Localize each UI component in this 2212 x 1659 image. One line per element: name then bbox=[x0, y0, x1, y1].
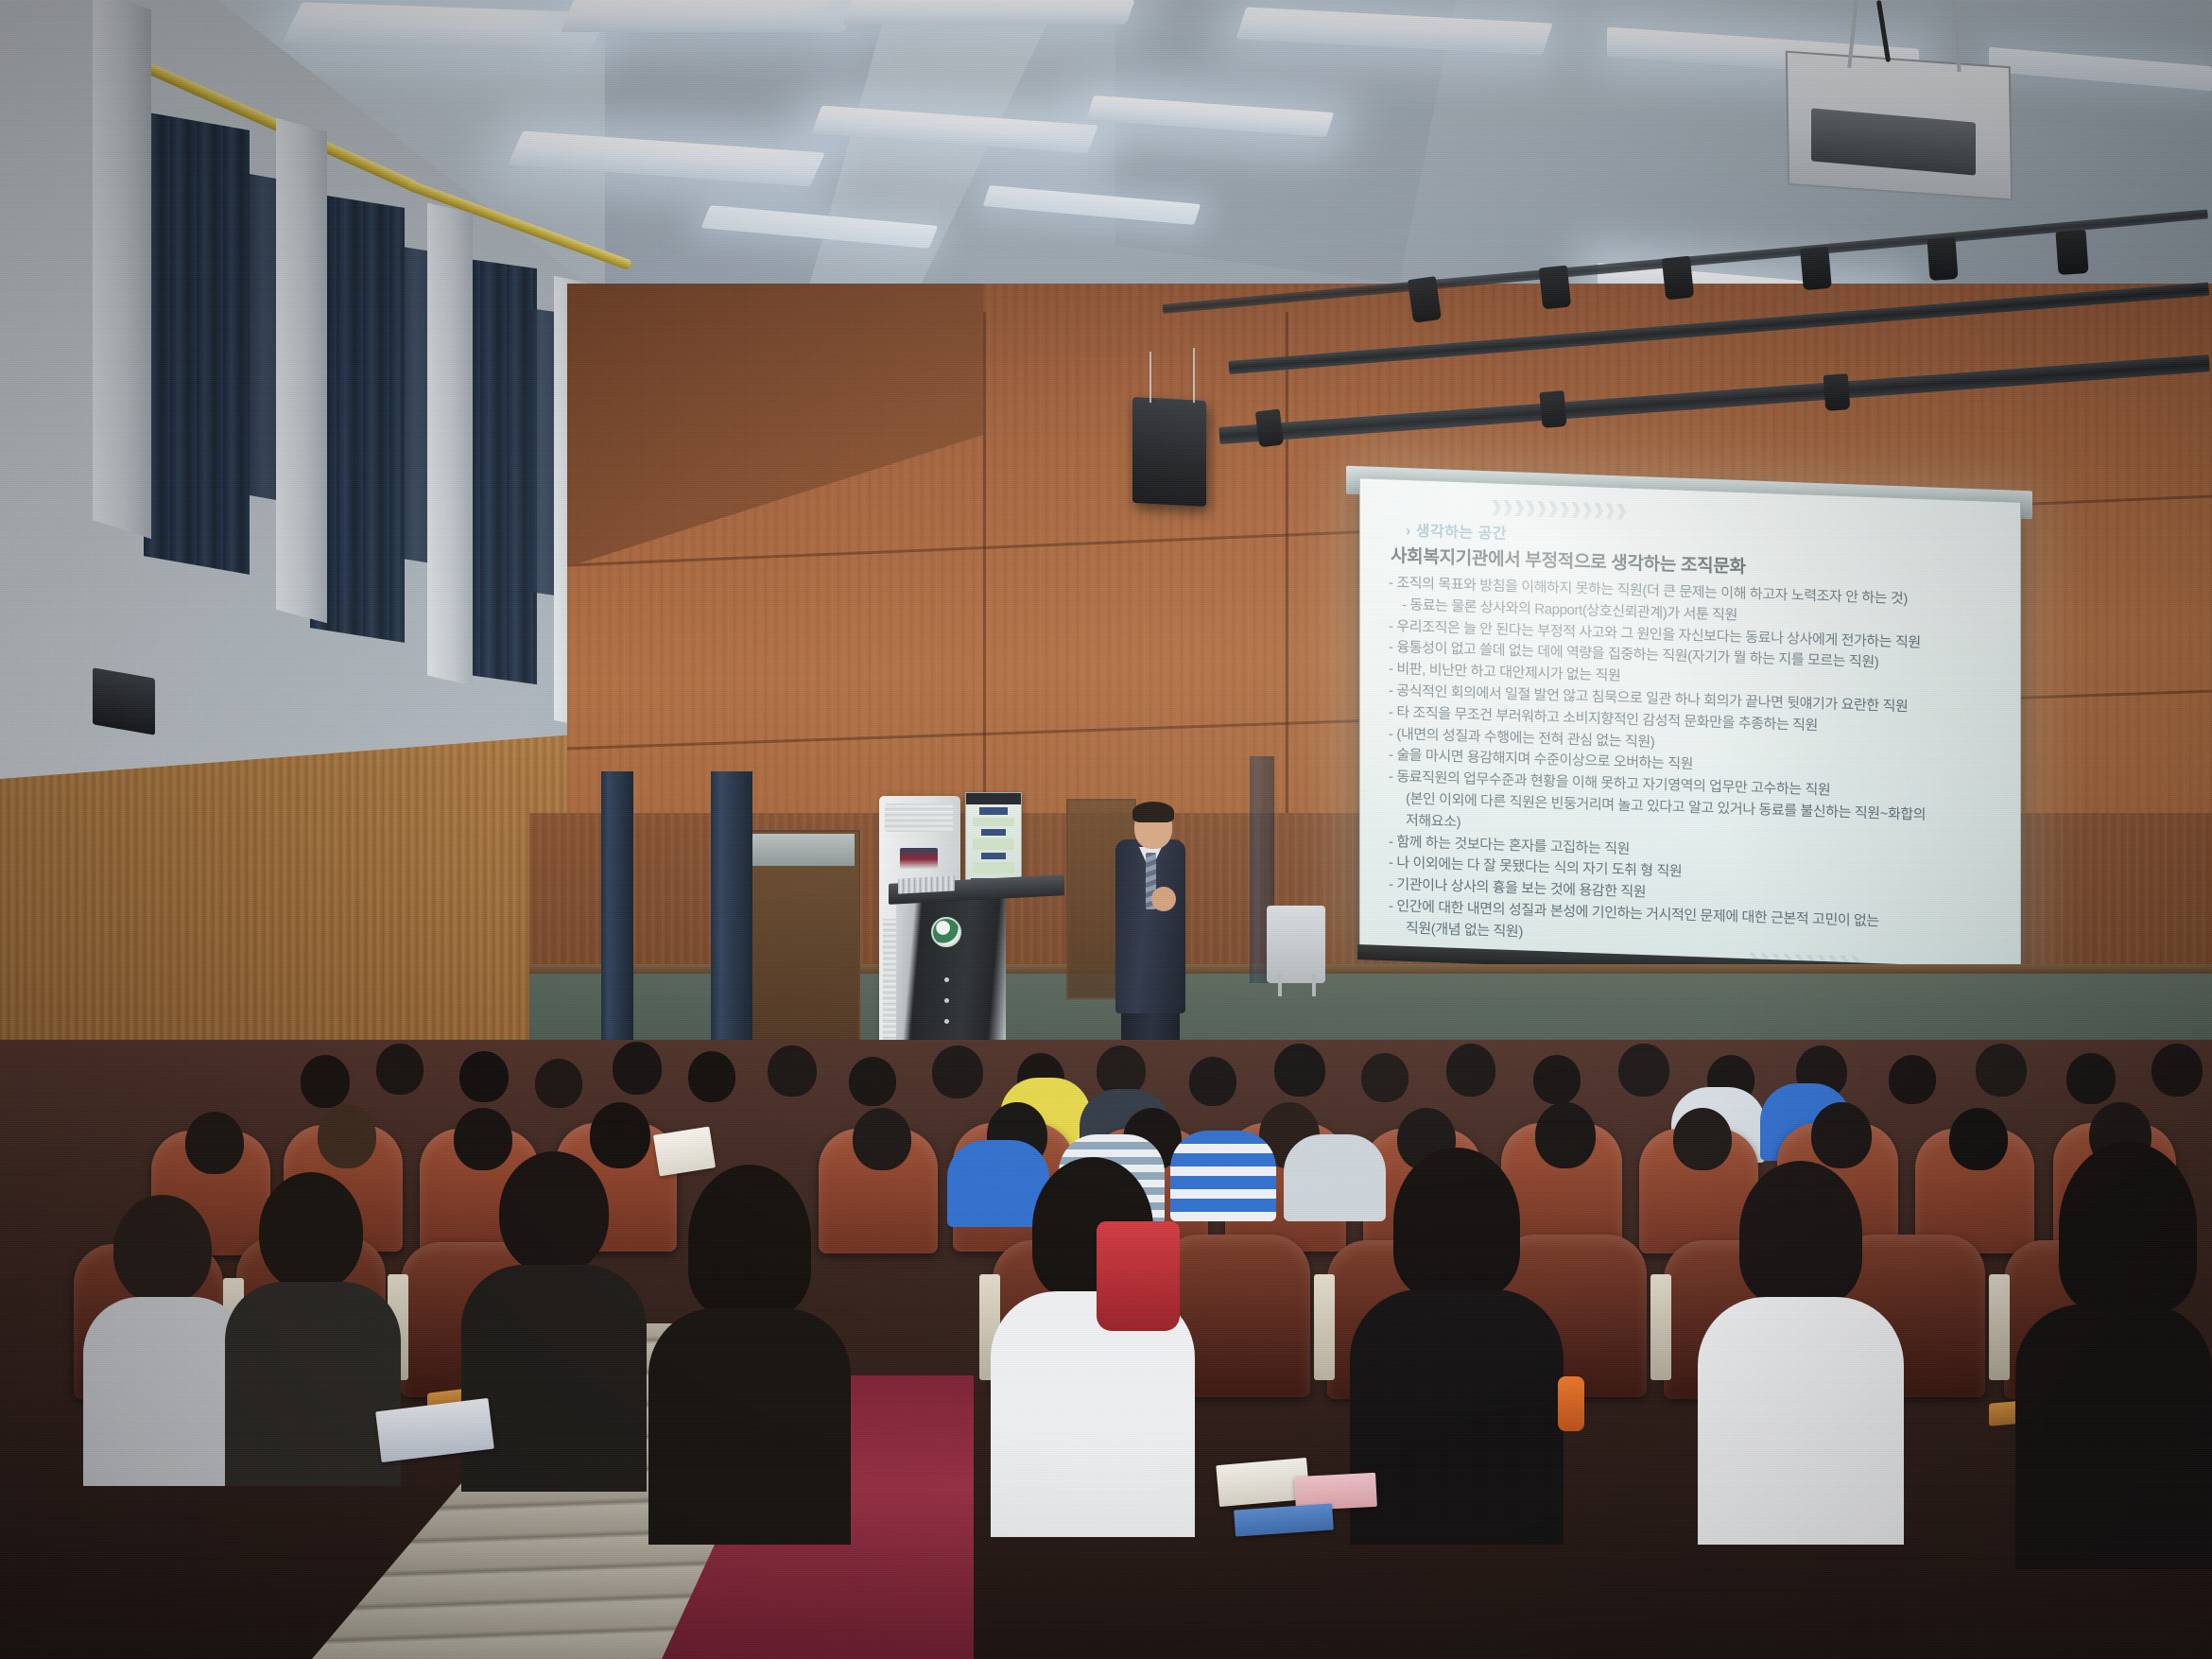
speaker-hand-with-microphone bbox=[1151, 887, 1176, 911]
lectern-dot-1 bbox=[944, 977, 949, 982]
wall-column-2 bbox=[276, 118, 327, 623]
audience-head bbox=[1361, 1053, 1408, 1102]
stage-curtain-mid bbox=[711, 771, 752, 1046]
lectern-dot-3 bbox=[944, 1019, 949, 1024]
wall-column-1 bbox=[93, 0, 151, 539]
poster-node-3 bbox=[981, 829, 1006, 836]
audience-head bbox=[2152, 1044, 2203, 1097]
audience-head bbox=[1739, 1161, 1862, 1305]
poster-node-1 bbox=[979, 807, 1008, 815]
audience-torso bbox=[648, 1308, 851, 1545]
audience-torso bbox=[461, 1265, 647, 1492]
poster-node-6 bbox=[973, 862, 1014, 873]
stage-spotlight-4 bbox=[1800, 247, 1832, 290]
wall-poster bbox=[965, 792, 1022, 887]
speaker-hair bbox=[1132, 802, 1174, 822]
audience-head bbox=[1889, 1055, 1936, 1104]
stage-spotlight-8 bbox=[1539, 390, 1566, 428]
audience-head bbox=[1393, 1148, 1520, 1297]
audience-head bbox=[113, 1195, 212, 1305]
stage-chair bbox=[1267, 906, 1325, 983]
audience-head bbox=[853, 1108, 911, 1170]
university-crest-icon bbox=[931, 917, 961, 947]
audience-head bbox=[2059, 1142, 2197, 1312]
backpack bbox=[1097, 1221, 1180, 1331]
audience-head bbox=[613, 1042, 662, 1095]
audience-head bbox=[259, 1172, 363, 1291]
stage-spotlight-7 bbox=[1255, 409, 1284, 448]
hanging-speaker-box bbox=[1132, 397, 1206, 507]
audience-head bbox=[1673, 1108, 1732, 1170]
audience-head bbox=[459, 1051, 509, 1102]
ac-vent bbox=[885, 804, 953, 832]
audience-head bbox=[1274, 1044, 1325, 1097]
poster-node-4 bbox=[973, 838, 1014, 850]
stage-curtain-left bbox=[601, 771, 633, 1055]
audience-torso bbox=[1170, 1131, 1276, 1221]
stage-spotlight-6 bbox=[2055, 230, 2088, 275]
audience-head bbox=[688, 1165, 811, 1316]
audience-head bbox=[1976, 1044, 2027, 1097]
wall-column-3 bbox=[427, 202, 473, 685]
lectern bbox=[896, 889, 1006, 1059]
stage-chair-legs bbox=[1278, 974, 1316, 996]
audience-head bbox=[1811, 1102, 1872, 1168]
stage-spotlight-5 bbox=[1927, 237, 1959, 281]
stage-spotlight-1 bbox=[1408, 276, 1442, 323]
ac-control-panel bbox=[900, 848, 938, 869]
audience-head bbox=[2066, 1053, 2116, 1104]
audience-head bbox=[768, 1046, 817, 1097]
audience-head bbox=[1533, 1055, 1581, 1104]
audience-head bbox=[535, 1059, 582, 1108]
stage-spotlight-3 bbox=[1662, 256, 1694, 301]
audience-torso bbox=[225, 1282, 401, 1486]
seat-armrest bbox=[1314, 1274, 1335, 1380]
projection-screen: › 생각하는 공간 사회복지기관에서 부정적으로 생각하는 조직문화 - 조직의… bbox=[1359, 477, 2021, 975]
hanging-speaker-wire-2 bbox=[1193, 348, 1195, 403]
poster-header bbox=[966, 793, 1021, 804]
poster-node-5 bbox=[981, 853, 1006, 859]
wall-speaker-left bbox=[93, 667, 155, 735]
audience-head bbox=[318, 1104, 376, 1168]
audience-head bbox=[1535, 1102, 1596, 1168]
water-bottle bbox=[1558, 1376, 1584, 1431]
audience-torso bbox=[1284, 1134, 1386, 1221]
audience-head bbox=[301, 1055, 350, 1108]
audience-head bbox=[499, 1151, 609, 1274]
audience-head bbox=[1618, 1044, 1669, 1097]
audience-head bbox=[1446, 1044, 1495, 1097]
ceiling-light-2 bbox=[561, 0, 857, 32]
stage-spotlight-9 bbox=[1823, 373, 1851, 411]
audience-torso bbox=[1698, 1297, 1904, 1545]
audience-head bbox=[185, 1112, 244, 1174]
audience-torso bbox=[2015, 1305, 2212, 1569]
stage-door-glass-left bbox=[752, 834, 855, 866]
audience-head bbox=[454, 1108, 512, 1170]
ceiling-light-3 bbox=[842, 0, 1134, 25]
audience-head bbox=[849, 1057, 896, 1106]
audience-head bbox=[1189, 1057, 1236, 1106]
audience-torso bbox=[1350, 1289, 1564, 1545]
auditorium-photo: › 생각하는 공간 사회복지기관에서 부정적으로 생각하는 조직문화 - 조직의… bbox=[0, 0, 2212, 1659]
audience-head bbox=[688, 1051, 735, 1102]
seat-armrest bbox=[1989, 1274, 2010, 1380]
handout-paper bbox=[653, 1127, 716, 1177]
poster-node-2 bbox=[973, 818, 1014, 826]
hanging-speaker-wire-1 bbox=[1149, 352, 1151, 403]
stage-spotlight-2 bbox=[1539, 266, 1571, 310]
audience-head bbox=[376, 1044, 423, 1095]
lectern-dot-2 bbox=[944, 998, 949, 1003]
audience-head bbox=[590, 1102, 650, 1168]
window-curtain-1 bbox=[144, 112, 250, 575]
seat-armrest bbox=[1650, 1274, 1671, 1380]
audience-head bbox=[932, 1046, 983, 1098]
audience-head bbox=[1949, 1108, 2008, 1170]
lectern-ribbed-panel bbox=[898, 875, 955, 893]
